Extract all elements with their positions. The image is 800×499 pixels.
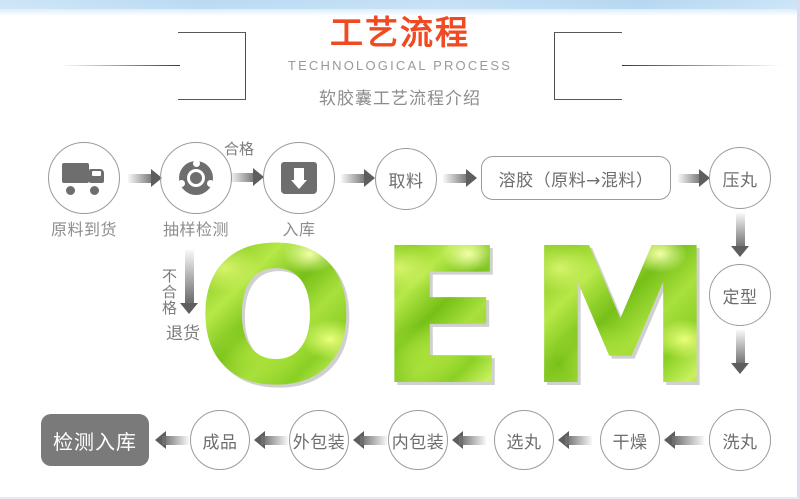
node-shaping[interactable]: 定型 <box>709 264 771 326</box>
arrow-drying-to-selectpill <box>558 431 592 450</box>
arrow-take-to-solgel <box>443 169 477 188</box>
caption-raw-arrival: 原料到货 <box>20 216 148 240</box>
watermark-letter-o: O <box>196 229 354 407</box>
sky-gradient-top <box>0 0 800 9</box>
header-text-group: 工艺流程 TECHNOLOGICAL PROCESS 软胶囊工艺流程介绍 <box>248 14 552 118</box>
sampling-icon <box>179 161 213 195</box>
node-press-pill[interactable]: 压丸 <box>709 147 771 209</box>
node-inspect-store[interactable]: 检测入库 <box>41 414 149 466</box>
flowchart-poster: 工艺流程 TECHNOLOGICAL PROCESS 软胶囊工艺流程介绍 O E… <box>0 0 800 499</box>
node-label: 成品 <box>203 428 238 453</box>
arrow-solgel-to-press <box>678 169 710 188</box>
node-material-take[interactable]: 取料 <box>375 148 437 210</box>
arrow-raw-to-sampling <box>128 169 162 188</box>
branch-label-pass: 合格 <box>224 138 254 159</box>
node-label: 洗丸 <box>723 428 758 453</box>
node-label: 外包装 <box>293 428 346 453</box>
node-inner-pack[interactable]: 内包装 <box>388 410 448 470</box>
page-subtitle-cn: 软胶囊工艺流程介绍 <box>248 88 552 110</box>
arrow-shaping-to-washing <box>731 330 750 374</box>
arrow-innerpack-to-outerpack <box>353 431 387 450</box>
oem-watermark: O E M <box>196 228 712 408</box>
node-label: 选丸 <box>507 428 542 453</box>
header: 工艺流程 TECHNOLOGICAL PROCESS 软胶囊工艺流程介绍 <box>0 14 800 118</box>
node-label: 定型 <box>723 283 758 308</box>
arrow-fail-to-return <box>180 250 199 314</box>
arrow-washing-to-drying <box>664 431 704 450</box>
arrow-press-to-shaping <box>731 213 750 257</box>
node-sampling[interactable] <box>160 142 232 214</box>
page-title: 工艺流程 <box>248 15 552 51</box>
watermark-letter-e: E <box>377 229 503 407</box>
caption-warehouse-in: 入库 <box>235 216 363 240</box>
arrow-selectpill-to-innerpack <box>452 431 486 450</box>
node-label: 取料 <box>389 167 424 192</box>
header-bracket-right <box>554 32 622 100</box>
arrow-finished-to-inspect <box>155 431 189 450</box>
node-sol-gel[interactable]: 溶胶（原料→混料） <box>481 156 671 200</box>
node-raw-arrival[interactable] <box>48 142 120 214</box>
node-select-pill[interactable]: 选丸 <box>494 410 554 470</box>
header-rule-right <box>622 65 782 66</box>
header-rule-left <box>60 65 180 66</box>
node-label: 压丸 <box>723 166 758 191</box>
arrow-warehouse-to-take <box>341 169 375 188</box>
branch-label-return: 退货 <box>166 319 200 344</box>
arrow-sampling-to-warehouse <box>230 168 264 187</box>
header-bracket-left <box>178 32 246 100</box>
node-warehouse-in[interactable] <box>263 142 335 214</box>
node-washing[interactable]: 洗丸 <box>709 409 771 471</box>
node-finished[interactable]: 成品 <box>190 410 250 470</box>
watermark-letter-m: M <box>527 229 712 407</box>
node-label: 内包装 <box>392 428 445 453</box>
page-subtitle-en: TECHNOLOGICAL PROCESS <box>248 58 552 74</box>
truck-icon <box>62 161 106 195</box>
node-label: 干燥 <box>613 428 648 453</box>
node-outer-pack[interactable]: 外包装 <box>289 410 349 470</box>
node-drying[interactable]: 干燥 <box>600 410 660 470</box>
node-label: 检测入库 <box>53 426 137 455</box>
branch-label-fail: 不合格 <box>159 268 180 316</box>
inbox-icon <box>281 162 317 194</box>
arrow-outerpack-to-finished <box>254 431 288 450</box>
node-label: 溶胶（原料→混料） <box>499 166 654 191</box>
